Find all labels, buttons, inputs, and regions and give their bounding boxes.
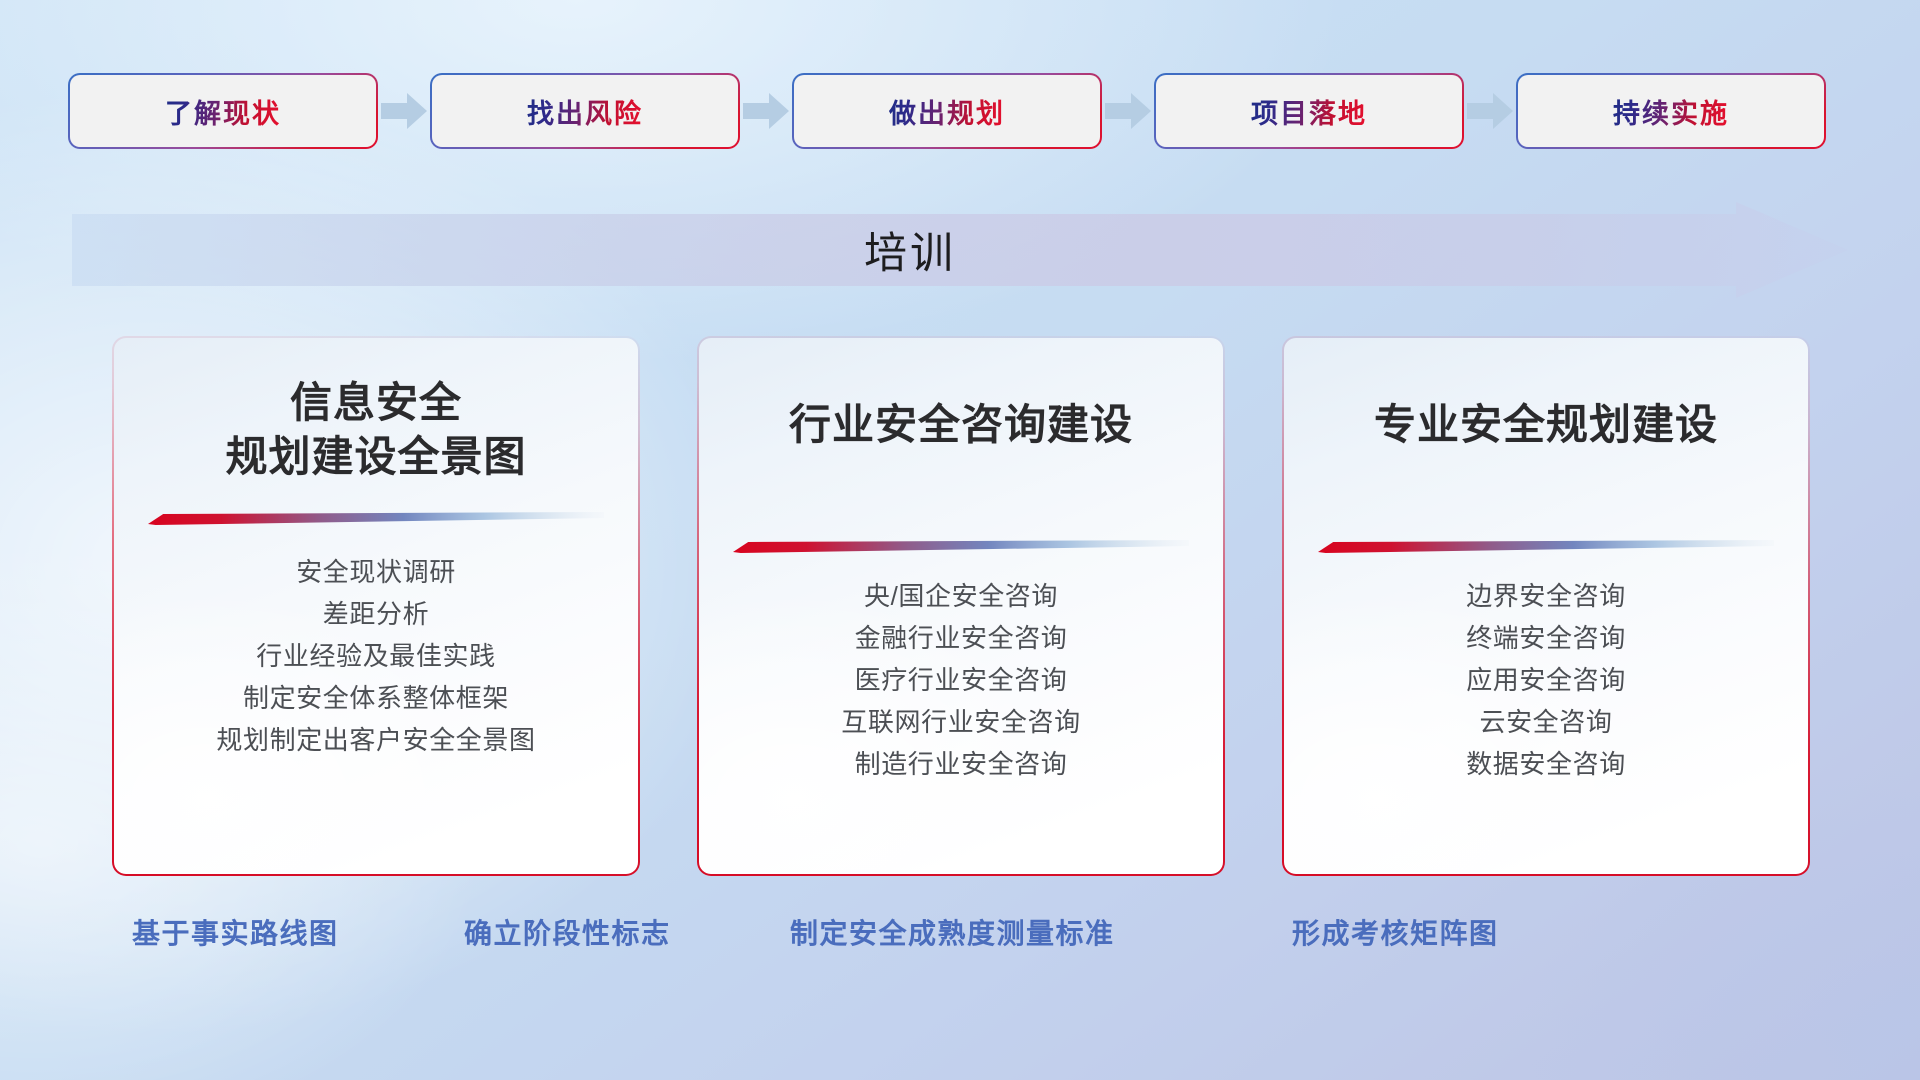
card-title: 行业安全咨询建设 bbox=[725, 398, 1197, 452]
step-label: 持续实施 bbox=[1613, 92, 1729, 131]
card-item-list: 边界安全咨询 终端安全咨询 应用安全咨询 云安全咨询 数据安全咨询 bbox=[1310, 575, 1782, 786]
training-banner: 培训 bbox=[72, 202, 1848, 298]
card-divider bbox=[1318, 540, 1774, 553]
caption-milestones: 确立阶段性标志 bbox=[464, 912, 671, 952]
list-item: 数据安全咨询 bbox=[1310, 743, 1782, 785]
step-label: 项目落地 bbox=[1251, 92, 1367, 131]
list-item: 医疗行业安全咨询 bbox=[725, 659, 1197, 701]
list-item: 云安全咨询 bbox=[1310, 701, 1782, 743]
step-box-5[interactable]: 持续实施 bbox=[1518, 75, 1824, 147]
card-divider bbox=[148, 512, 604, 525]
list-item: 安全现状调研 bbox=[140, 551, 612, 593]
list-item: 制造行业安全咨询 bbox=[725, 743, 1197, 785]
step-box-4[interactable]: 项目落地 bbox=[1156, 75, 1462, 147]
slide-canvas: 了解现状 找出风险 做出规划 项目落地 bbox=[0, 0, 1920, 1080]
arrow-right-icon bbox=[738, 93, 794, 129]
card-title: 信息安全 规划建设全景图 bbox=[140, 376, 612, 484]
card-divider bbox=[733, 540, 1189, 553]
step-box-3[interactable]: 做出规划 bbox=[794, 75, 1100, 147]
list-item: 制定安全体系整体框架 bbox=[140, 677, 612, 719]
card-item-list: 央/国企安全咨询 金融行业安全咨询 医疗行业安全咨询 互联网行业安全咨询 制造行… bbox=[725, 575, 1197, 786]
step-box-2[interactable]: 找出风险 bbox=[432, 75, 738, 147]
caption-roadmap: 基于事实路线图 bbox=[132, 912, 339, 952]
card-body: 专业安全规划建设 bbox=[1284, 338, 1808, 874]
card-title: 专业安全规划建设 bbox=[1310, 398, 1782, 452]
card-information-security-blueprint[interactable]: 信息安全 规划建设全景图 bbox=[112, 336, 640, 876]
card-professional-security-planning[interactable]: 专业安全规划建设 bbox=[1282, 336, 1810, 876]
caption-maturity-standard: 制定安全成熟度测量标准 bbox=[790, 912, 1115, 952]
card-industry-security-consulting[interactable]: 行业安全咨询建设 bbox=[697, 336, 1225, 876]
list-item: 金融行业安全咨询 bbox=[725, 617, 1197, 659]
card-body: 信息安全 规划建设全景图 bbox=[114, 338, 638, 874]
process-step-row: 了解现状 找出风险 做出规划 项目落地 bbox=[70, 75, 1850, 147]
step-label: 找出风险 bbox=[527, 92, 643, 131]
card-body: 行业安全咨询建设 bbox=[699, 338, 1223, 874]
arrow-right-icon bbox=[1462, 93, 1518, 129]
card-item-list: 安全现状调研 差距分析 行业经验及最佳实践 制定安全体系整体框架 规划制定出客户… bbox=[140, 551, 612, 762]
list-item: 边界安全咨询 bbox=[1310, 575, 1782, 617]
list-item: 差距分析 bbox=[140, 593, 612, 635]
step-label: 做出规划 bbox=[889, 92, 1005, 131]
arrow-right-icon bbox=[1100, 93, 1156, 129]
list-item: 行业经验及最佳实践 bbox=[140, 635, 612, 677]
arrow-right-icon bbox=[376, 93, 432, 129]
list-item: 规划制定出客户安全全景图 bbox=[140, 719, 612, 761]
step-label: 了解现状 bbox=[165, 92, 281, 131]
list-item: 央/国企安全咨询 bbox=[725, 575, 1197, 617]
list-item: 应用安全咨询 bbox=[1310, 659, 1782, 701]
caption-row: 基于事实路线图 确立阶段性标志 制定安全成熟度测量标准 形成考核矩阵图 bbox=[0, 912, 1920, 964]
step-box-1[interactable]: 了解现状 bbox=[70, 75, 376, 147]
caption-assessment-matrix: 形成考核矩阵图 bbox=[1292, 912, 1499, 952]
card-row: 信息安全 规划建设全景图 bbox=[112, 336, 1812, 876]
list-item: 终端安全咨询 bbox=[1310, 617, 1782, 659]
banner-title: 培训 bbox=[72, 202, 1848, 298]
list-item: 互联网行业安全咨询 bbox=[725, 701, 1197, 743]
